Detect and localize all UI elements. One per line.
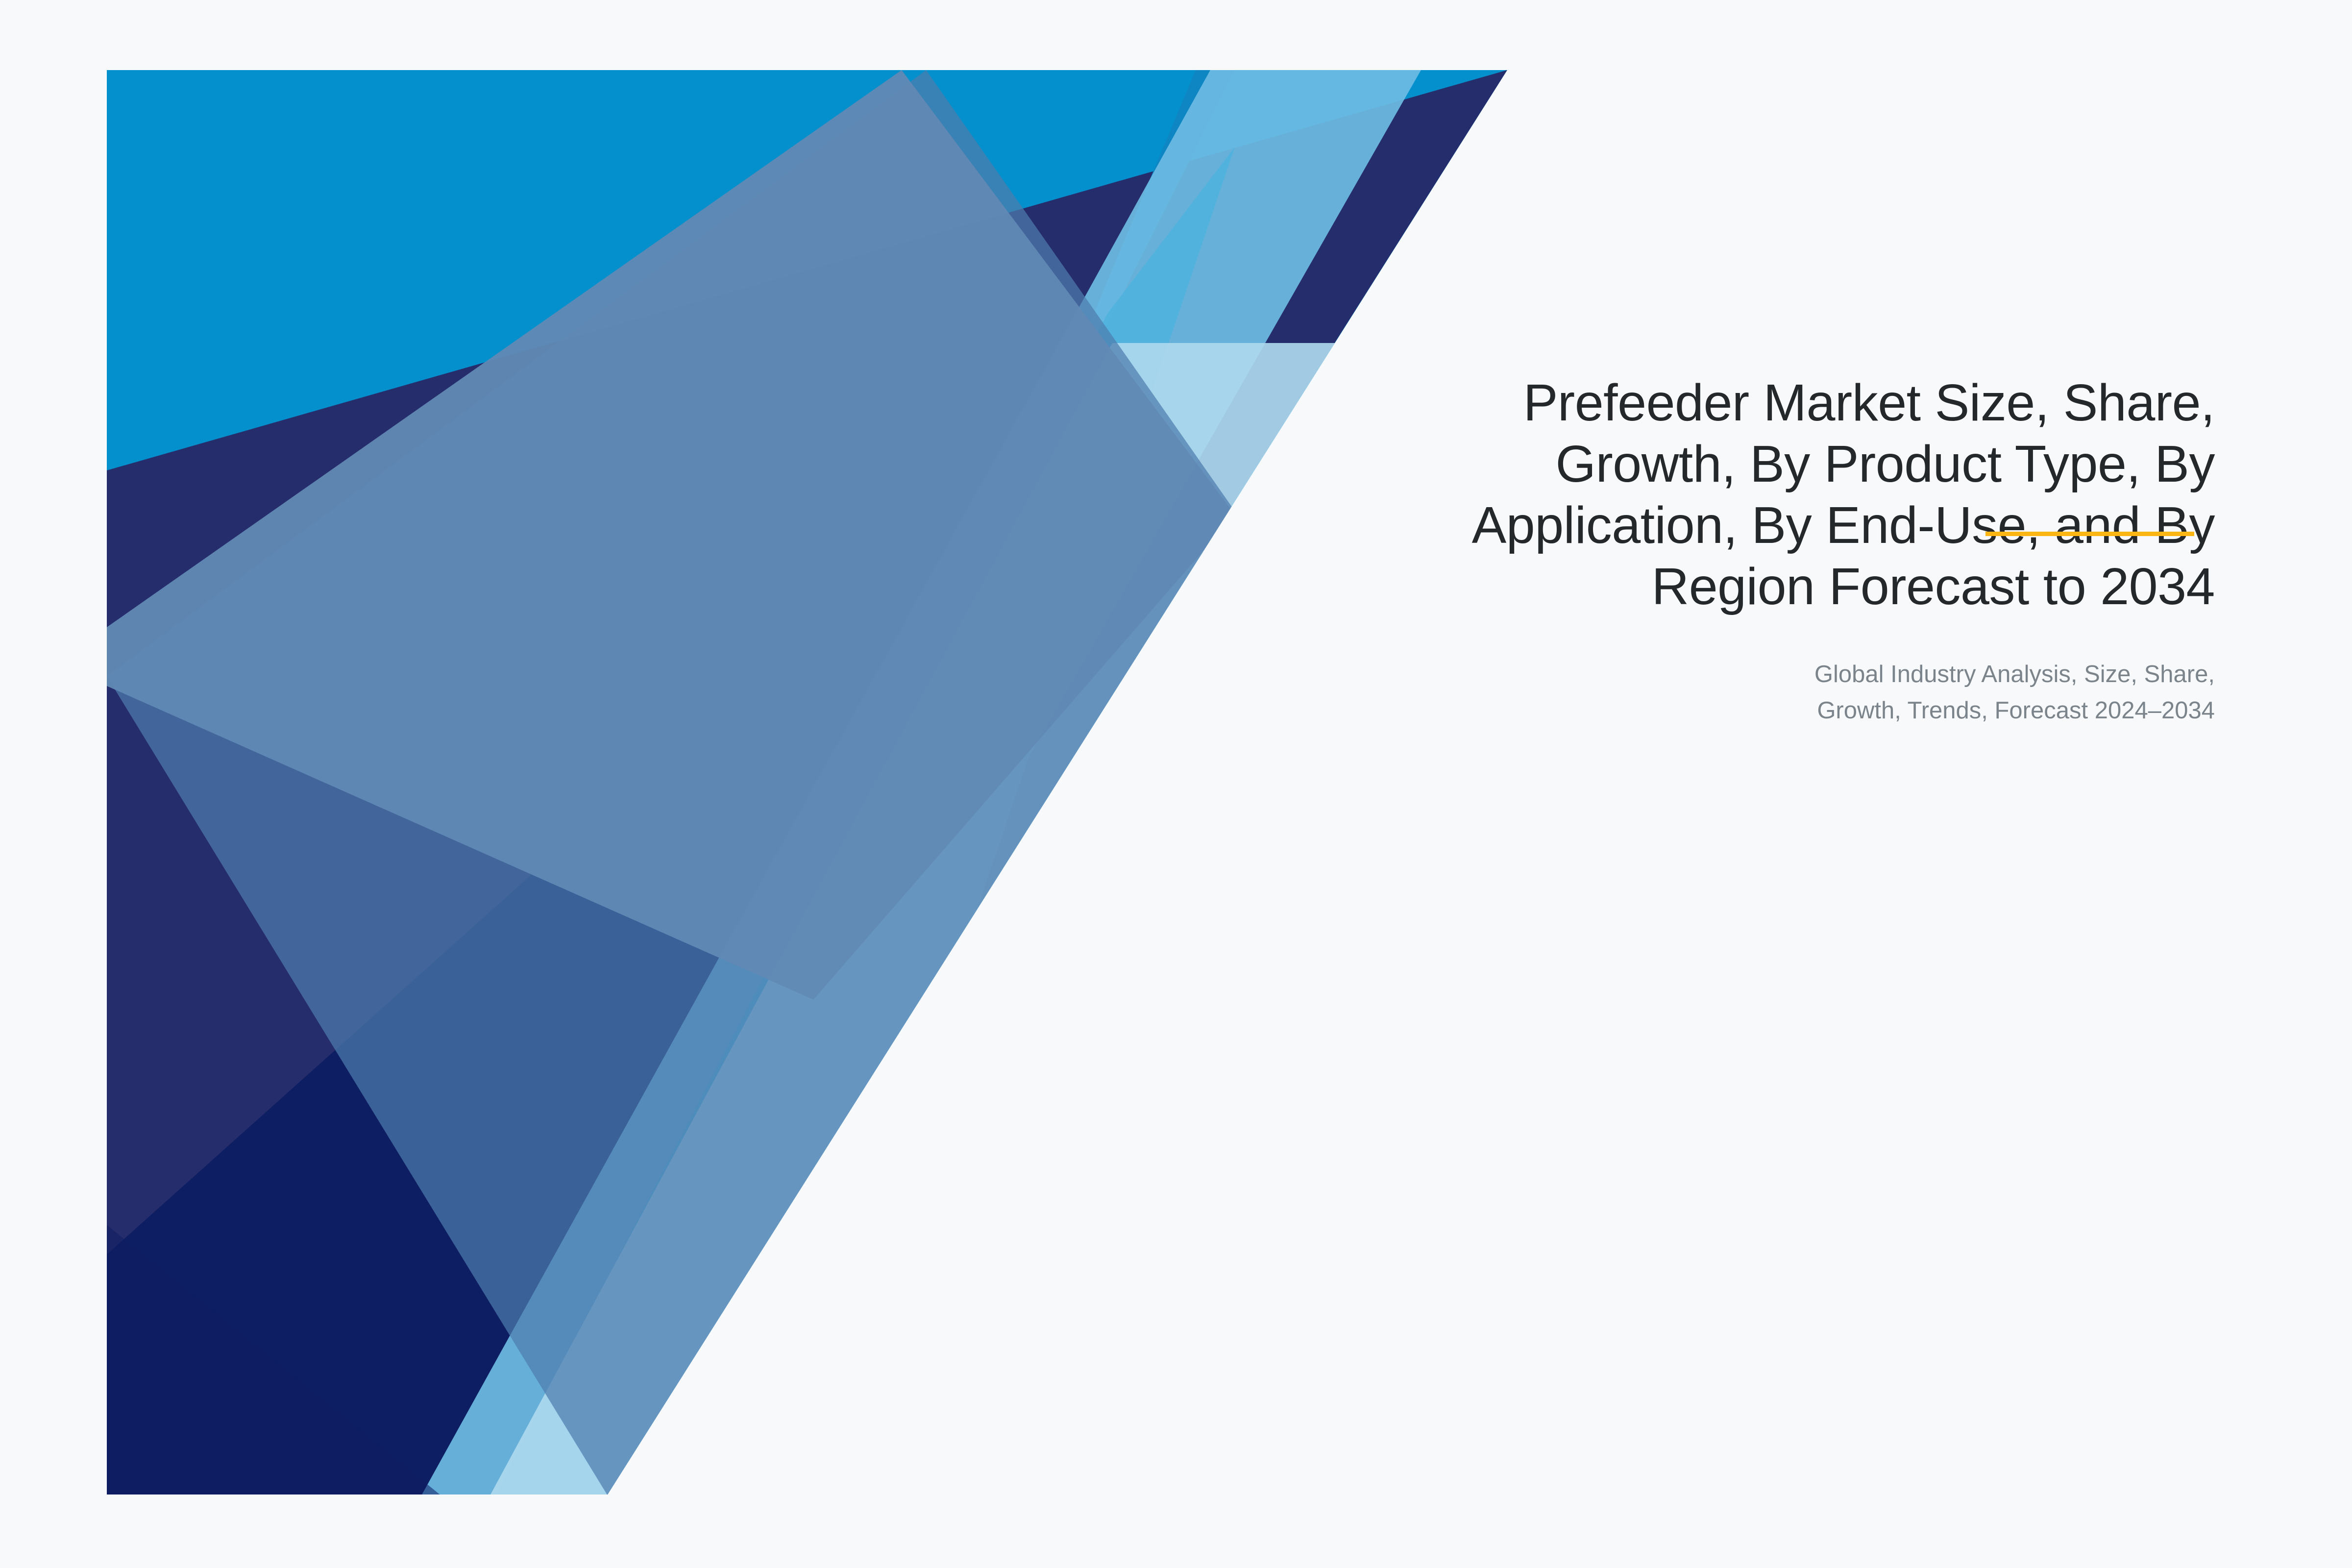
- shape-navy-foot: [107, 1225, 441, 1495]
- cover-text-block: Prefeeder Market Size, Share, Growth, By…: [1029, 372, 2215, 617]
- title-accent-underline: [1985, 532, 2194, 536]
- shape-sky-blue-band: [495, 147, 1235, 1495]
- subtitle-line-1: Global Industry Analysis, Size, Share,: [1029, 657, 2215, 693]
- cover-subtitle: Global Industry Analysis, Size, Share, G…: [1029, 657, 2215, 729]
- cover-page: Prefeeder Market Size, Share, Growth, By…: [0, 0, 2352, 1568]
- shape-light-blue-band: [421, 70, 1421, 1495]
- shape-deep-navy-triangle: [107, 622, 813, 1495]
- subtitle-line-2: Growth, Trends, Forecast 2024–2034: [1029, 693, 2215, 729]
- page-title: Prefeeder Market Size, Share, Growth, By…: [1029, 372, 2215, 617]
- abstract-geometry-artwork: [0, 0, 2352, 1568]
- shape-cyan-base: [107, 70, 1508, 1496]
- shape-steel-blue-overlay: [107, 70, 1323, 1495]
- shape-navy-wedge: [107, 70, 1507, 1495]
